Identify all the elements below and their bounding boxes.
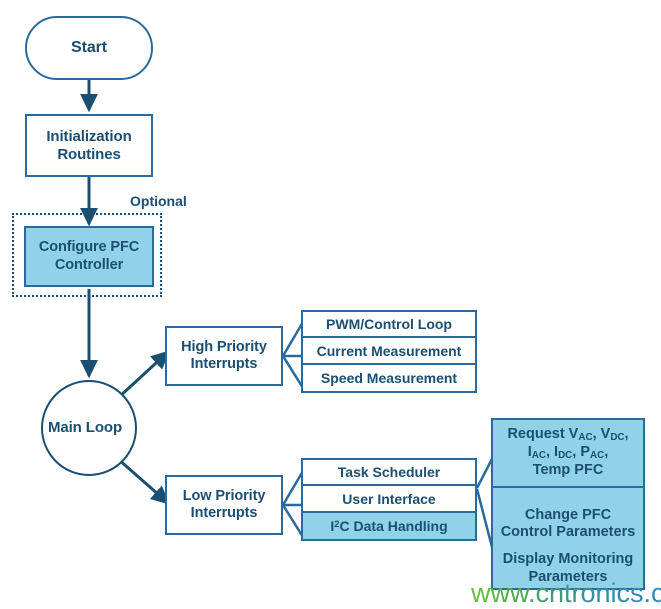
node-main-loop[interactable]: Main Loop [41, 380, 137, 476]
task-label-task-scheduler: Task Scheduler [338, 464, 440, 480]
panel-change-line-2: Control Parameters [501, 524, 636, 541]
node-start[interactable]: Start [25, 16, 153, 80]
init-line-1: Initialization [46, 128, 131, 146]
node-high-priority-interrupts[interactable]: High Priority Interrupts [165, 326, 283, 386]
task-label-pwm-control-loop: PWM/Control Loop [326, 316, 452, 332]
configure-line-1: Configure PFC [39, 239, 139, 256]
panel-change-pfc-parameters[interactable]: Change PFC Control Parameters Display Mo… [491, 486, 645, 590]
optional-region-label: Optional [130, 193, 187, 209]
task-row-i2c-data-handling[interactable]: I2C Data Handling [301, 511, 477, 541]
task-row-current-measurement[interactable]: Current Measurement [301, 336, 477, 366]
node-start-label: Start [71, 39, 107, 58]
panel-change-spacer [501, 541, 636, 551]
node-initialization-label: Initialization Routines [46, 128, 131, 163]
panel-change-line-3: Display Monitoring [501, 551, 636, 568]
low-priority-task-stack: Task Scheduler User Interface I2C Data H… [301, 458, 477, 541]
low-priority-line-2: Interrupts [183, 505, 266, 522]
site-watermark: www.cntronics.com [471, 578, 661, 609]
panel-request-text: Request VAC, VDC, IAC, IDC, PAC, Temp PF… [507, 426, 628, 479]
node-configure-pfc-label: Configure PFC Controller [39, 239, 139, 273]
connector-high-1 [283, 322, 303, 356]
low-priority-line-1: Low Priority [183, 488, 266, 505]
node-low-priority-interrupts[interactable]: Low Priority Interrupts [165, 475, 283, 535]
panel-request-line-3: Temp PFC [507, 462, 628, 479]
panel-change-line-1: Change PFC [501, 507, 636, 524]
connector-low-1 [283, 471, 303, 505]
connector-low-3 [283, 505, 303, 537]
task-row-pwm-control-loop[interactable]: PWM/Control Loop [301, 310, 477, 338]
task-label-current-measurement: Current Measurement [317, 343, 462, 359]
task-row-task-scheduler[interactable]: Task Scheduler [301, 458, 477, 486]
node-main-loop-label: Main Loop [48, 419, 122, 437]
high-priority-line-2: Interrupts [181, 356, 267, 373]
task-row-user-interface[interactable]: User Interface [301, 484, 477, 514]
node-high-priority-label: High Priority Interrupts [181, 339, 267, 373]
pfc-detail-panels: Request VAC, VDC, IAC, IDC, PAC, Temp PF… [491, 418, 645, 590]
panel-request-measurements[interactable]: Request VAC, VDC, IAC, IDC, PAC, Temp PF… [491, 418, 645, 488]
arrow-mainloop-to-low-priority [118, 459, 168, 503]
connector-high-3 [283, 356, 303, 388]
high-priority-task-stack: PWM/Control Loop Current Measurement Spe… [301, 310, 477, 393]
node-low-priority-label: Low Priority Interrupts [183, 488, 266, 522]
init-line-2: Routines [46, 146, 131, 164]
panel-request-line-2: IAC, IDC, PAC, [507, 444, 628, 462]
task-label-user-interface: User Interface [342, 491, 435, 507]
flowchart-canvas: Start Initialization Routines Optional C… [0, 0, 661, 609]
task-label-i2c-data-handling: I2C Data Handling [330, 518, 447, 534]
node-configure-pfc-controller[interactable]: Configure PFC Controller [24, 226, 154, 287]
high-priority-line-1: High Priority [181, 339, 267, 356]
configure-line-2: Controller [39, 257, 139, 274]
i2c-rest: C Data Handling [340, 518, 448, 534]
node-initialization-routines[interactable]: Initialization Routines [25, 114, 153, 177]
panel-change-text: Change PFC Control Parameters Display Mo… [501, 507, 636, 587]
task-label-speed-measurement: Speed Measurement [321, 370, 457, 386]
arrow-mainloop-to-high-priority [118, 352, 168, 398]
task-row-speed-measurement[interactable]: Speed Measurement [301, 363, 477, 393]
panel-request-line-1: Request VAC, VDC, [507, 426, 628, 444]
